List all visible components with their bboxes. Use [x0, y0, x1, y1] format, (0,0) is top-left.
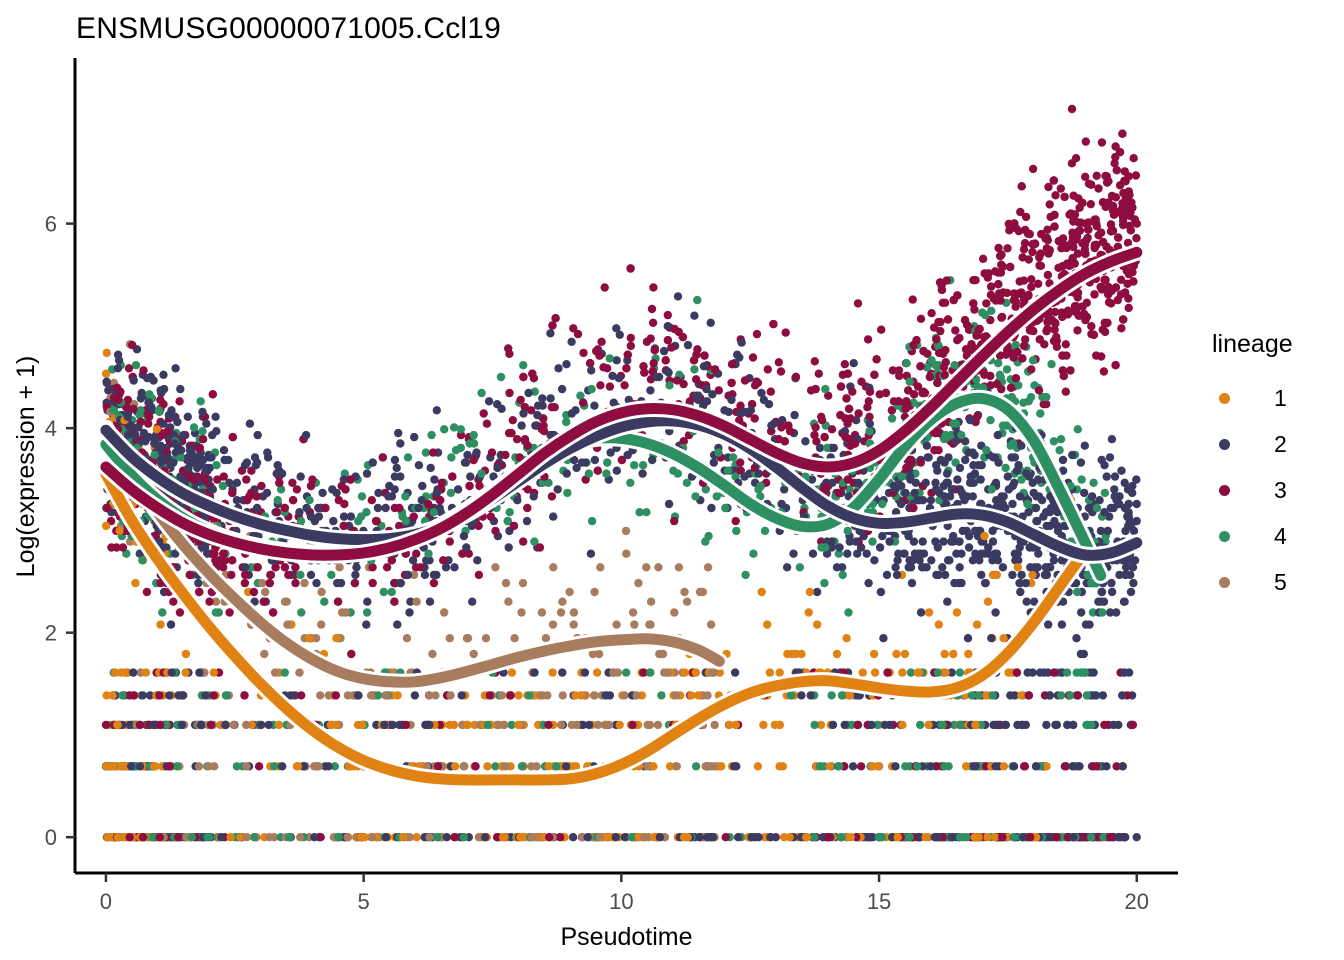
chart-root: ENSMUSG00000071005.Ccl19 051015200246Pse… — [0, 0, 1344, 960]
y-tick-label: 6 — [45, 212, 57, 237]
legend-item-label: 2 — [1274, 431, 1287, 458]
legend-color-swatch — [1204, 577, 1244, 588]
legend-dot-icon — [1219, 439, 1230, 450]
legend-item-5[interactable]: 5 — [1204, 559, 1334, 605]
legend-item-label: 4 — [1274, 523, 1287, 550]
legend-items: 12345 — [1204, 375, 1334, 605]
legend-dot-icon — [1219, 531, 1230, 542]
y-tick-label: 0 — [45, 825, 57, 850]
legend-dot-icon — [1219, 577, 1230, 588]
legend-item-label: 3 — [1274, 477, 1287, 504]
legend-item-3[interactable]: 3 — [1204, 467, 1334, 513]
y-axis-title: Log(expression + 1) — [12, 356, 40, 578]
legend-color-swatch — [1204, 485, 1244, 496]
plot-canvas: 051015200246PseudotimeLog(expression + 1… — [0, 0, 1344, 960]
legend-item-1[interactable]: 1 — [1204, 375, 1334, 421]
x-tick-label: 0 — [100, 889, 112, 914]
legend-title: lineage — [1212, 330, 1334, 359]
legend-dot-icon — [1219, 485, 1230, 496]
y-tick-label: 4 — [45, 416, 57, 441]
x-tick-label: 15 — [867, 889, 891, 914]
x-tick-label: 10 — [609, 889, 633, 914]
legend-item-label: 5 — [1274, 569, 1287, 596]
legend-color-swatch — [1204, 531, 1244, 542]
legend-item-2[interactable]: 2 — [1204, 421, 1334, 467]
scatter-points-layer — [102, 105, 1141, 842]
y-tick-label: 2 — [45, 621, 57, 646]
x-tick-label: 20 — [1125, 889, 1149, 914]
legend-color-swatch — [1204, 439, 1244, 450]
x-axis-title: Pseudotime — [560, 923, 692, 951]
legend-dot-icon — [1219, 393, 1230, 404]
x-tick-label: 5 — [358, 889, 370, 914]
legend-color-swatch — [1204, 393, 1244, 404]
legend-item-label: 1 — [1274, 385, 1287, 412]
legend-item-4[interactable]: 4 — [1204, 513, 1334, 559]
legend: lineage 12345 — [1204, 330, 1334, 605]
